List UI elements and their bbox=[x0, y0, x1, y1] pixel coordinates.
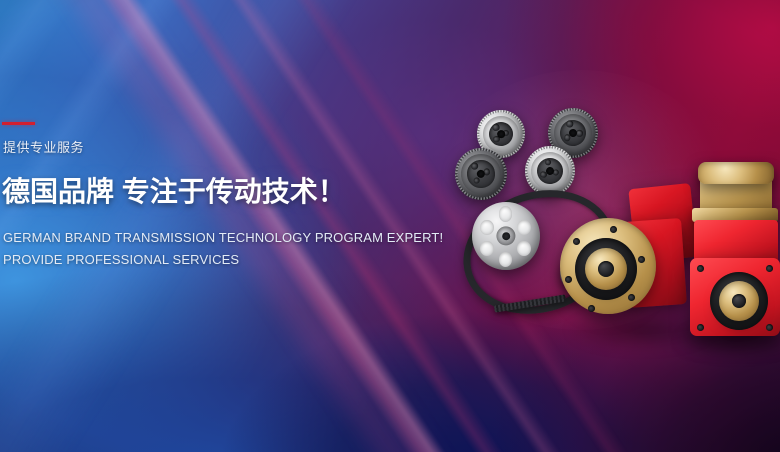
accent-rule bbox=[2, 122, 35, 125]
banner-copy: 提供专业服务 德国品牌 专注于传动技术！ GERMAN BRAND TRANSM… bbox=[2, 0, 422, 452]
banner-subtitle-line-1: GERMAN BRAND TRANSMISSION TECHNOLOGY PRO… bbox=[3, 230, 443, 245]
banner-headline: 德国品牌 专注于传动技术！ bbox=[2, 170, 346, 210]
banner-kicker: 提供专业服务 bbox=[3, 137, 84, 156]
hero-banner: 提供专业服务 德国品牌 专注于传动技术！ GERMAN BRAND TRANSM… bbox=[0, 0, 780, 452]
banner-subtitle-line-2: PROVIDE PROFESSIONAL SERVICES bbox=[3, 252, 239, 267]
